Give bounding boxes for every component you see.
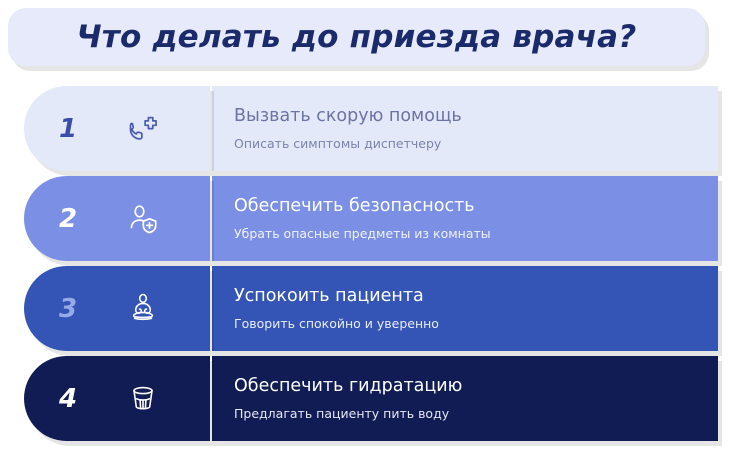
steps-list: 1 Вызвать скорую помощь Описать симптомы… [0, 86, 730, 441]
step-content: Успокоить пациента Говорить спокойно и у… [210, 266, 718, 351]
water-glass-icon [112, 380, 174, 418]
step-row[interactable]: 3 Успокоить пациента Говорить спокойно и… [0, 266, 730, 351]
step-content: Обеспечить безопасность Убрать опасные п… [210, 176, 718, 261]
person-shield-icon [112, 200, 174, 238]
step-subtitle: Предлагать пациенту пить воду [234, 406, 718, 421]
step-badge: 4 [24, 356, 210, 441]
step-number: 4 [24, 386, 112, 412]
step-title: Вызвать скорую помощь [234, 106, 718, 128]
page-title: Что делать до приезда врача? [77, 19, 637, 55]
phone-medical-icon [112, 110, 174, 148]
step-badge: 3 [24, 266, 210, 351]
step-subtitle: Описать симптомы диспетчеру [234, 136, 718, 151]
page-title-banner: Что делать до приезда врача? [8, 8, 705, 66]
step-subtitle: Говорить спокойно и уверенно [234, 316, 718, 331]
step-row[interactable]: 4 Обеспечить гидратацию Предлагать пацие… [0, 356, 730, 441]
step-badge: 1 [24, 86, 210, 171]
step-number: 1 [24, 116, 112, 142]
step-content: Вызвать скорую помощь Описать симптомы д… [210, 86, 718, 171]
step-number: 2 [24, 206, 112, 232]
step-title: Обеспечить гидратацию [234, 376, 718, 398]
step-number: 3 [24, 296, 112, 322]
step-title: Успокоить пациента [234, 286, 718, 308]
step-row[interactable]: 2 Обеспечить безопасность Убрать опасные… [0, 176, 730, 261]
step-row[interactable]: 1 Вызвать скорую помощь Описать симптомы… [0, 86, 730, 171]
step-subtitle: Убрать опасные предметы из комнаты [234, 226, 718, 241]
step-title: Обеспечить безопасность [234, 196, 718, 218]
step-badge: 2 [24, 176, 210, 261]
step-content: Обеспечить гидратацию Предлагать пациент… [210, 356, 718, 441]
meditation-person-icon [112, 290, 174, 328]
